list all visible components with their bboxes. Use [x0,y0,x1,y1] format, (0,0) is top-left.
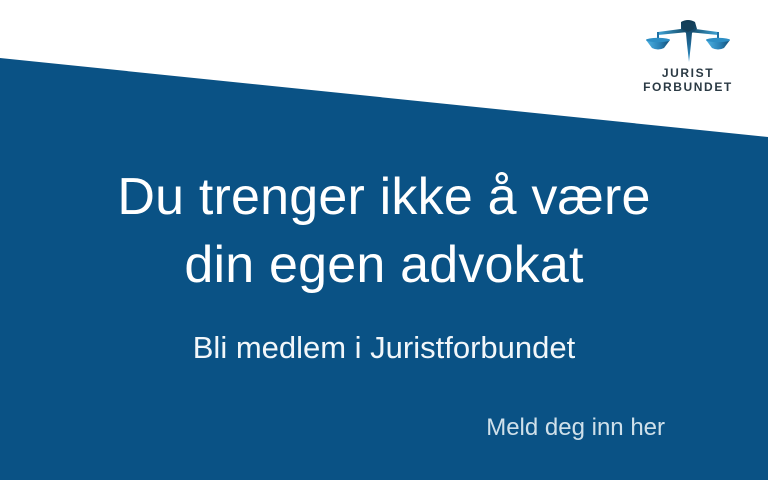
headline: Du trenger ikke å være din egen advokat [0,163,768,299]
cta-link-meld-deg-inn-her[interactable]: Meld deg inn her [0,412,768,444]
subtitle: Bli medlem i Juristforbundet [0,328,768,368]
juristforbundet-logo[interactable]: JURIST FORBUNDET [640,14,736,100]
advertisement-banner: JURIST FORBUNDET Du trenger ikke å være … [0,0,768,480]
headline-line-2: din egen advokat [0,231,768,299]
headline-line-1: Du trenger ikke å være [0,163,768,231]
scales-of-justice-icon [640,14,736,64]
logo-word-jurist: JURIST [640,66,736,80]
logo-word-forbundet: FORBUNDET [640,80,736,94]
